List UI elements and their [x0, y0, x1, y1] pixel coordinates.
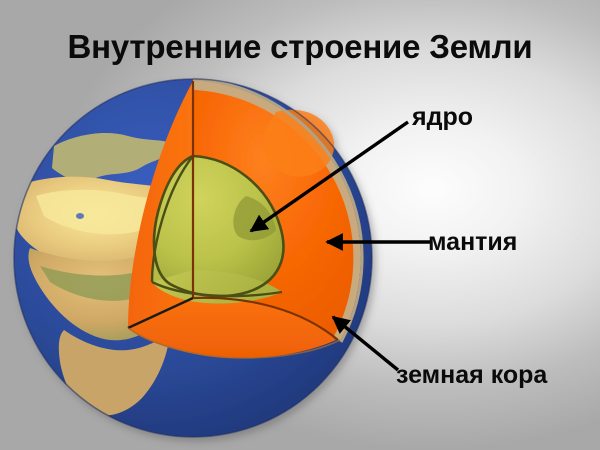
label-core: ядро: [412, 103, 473, 132]
globe-group: [12, 79, 372, 437]
slide-canvas: Внутренние строение Земли: [0, 0, 600, 450]
label-crust: земная кора: [396, 361, 547, 390]
label-mantle: мантия: [428, 228, 517, 257]
land-lake: [76, 213, 84, 219]
